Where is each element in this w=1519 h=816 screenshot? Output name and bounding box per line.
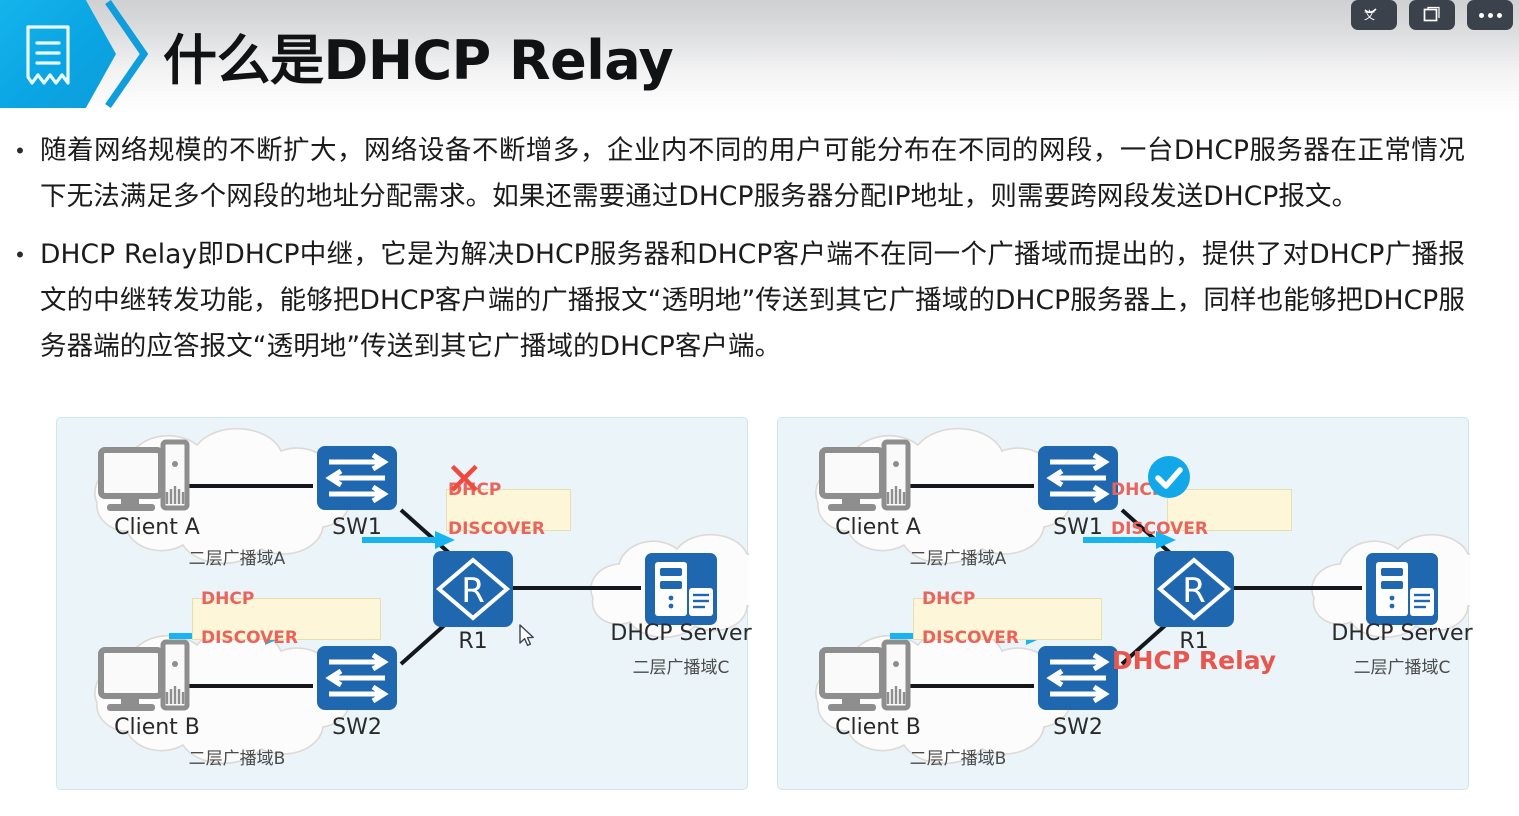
- domain-label-c: 二层广播域C: [591, 653, 771, 678]
- router-icon: R: [1154, 551, 1234, 627]
- status-error-icon: ✕: [445, 456, 484, 502]
- message-line-1: DHCP: [922, 589, 975, 609]
- svg-text:R: R: [1182, 571, 1206, 611]
- more-options-button[interactable]: [1467, 0, 1513, 30]
- window-controls: 文: [1351, 0, 1513, 30]
- node-label-sw1: SW1: [277, 515, 437, 540]
- bullet-item: • 随着网络规模的不断扩大，网络设备不断增多，企业内不同的用户可能分布在不同的网…: [0, 128, 1500, 220]
- bullet-item: • DHCP Relay即DHCP中继，它是为解决DHCP服务器和DHCP客户端…: [0, 232, 1500, 370]
- domain-label-a: 二层广播域A: [157, 544, 317, 569]
- message-line-2: DISCOVER: [201, 628, 298, 648]
- chevron-right-icon: [104, 0, 148, 108]
- status-ok-icon: [1147, 455, 1191, 499]
- diagram-panel-with-relay: R: [777, 417, 1469, 790]
- switch-icon: [1038, 446, 1118, 510]
- message-line-2: DISCOVER: [448, 519, 545, 539]
- window-restore-icon: [1422, 6, 1442, 24]
- node-label-client-b: Client B: [77, 715, 237, 740]
- diagram-panel-without-relay: R: [56, 417, 748, 790]
- page-title: 什么是DHCP Relay: [163, 16, 673, 95]
- switch-icon: [317, 646, 397, 710]
- domain-label-b: 二层广播域B: [157, 744, 317, 769]
- node-label-client-a: Client A: [798, 515, 958, 540]
- node-label-dhcp-server: DHCP Server: [591, 621, 771, 646]
- server-icon: [1366, 553, 1438, 625]
- body-bullets: • 随着网络规模的不断扩大，网络设备不断增多，企业内不同的用户可能分布在不同的网…: [0, 128, 1500, 382]
- message-line-1: DHCP: [201, 589, 254, 609]
- mouse-cursor: [519, 624, 535, 648]
- bullet-marker: •: [0, 232, 40, 370]
- message-line-2: DISCOVER: [922, 628, 1019, 648]
- node-label-client-b: Client B: [798, 715, 958, 740]
- document-icon: [22, 24, 74, 86]
- node-label-sw2: SW2: [277, 715, 437, 740]
- bullet-text: 随着网络规模的不断扩大，网络设备不断增多，企业内不同的用户可能分布在不同的网段，…: [40, 128, 1465, 220]
- node-label-client-a: Client A: [77, 515, 237, 540]
- translate-button[interactable]: 文: [1351, 0, 1397, 30]
- server-icon: [645, 553, 717, 625]
- bullet-text: DHCP Relay即DHCP中继，它是为解决DHCP服务器和DHCP客户端不在…: [40, 232, 1465, 370]
- node-label-sw1: SW1: [998, 515, 1158, 540]
- node-label-sw2: SW2: [998, 715, 1158, 740]
- more-horizontal-icon: [1479, 13, 1502, 18]
- restore-window-button[interactable]: [1409, 0, 1455, 30]
- translate-icon: 文: [1364, 6, 1384, 24]
- domain-label-c: 二层广播域C: [1312, 653, 1492, 678]
- relay-label: DHCP Relay: [1084, 646, 1304, 675]
- svg-text:R: R: [461, 571, 485, 611]
- router-icon: R: [433, 551, 513, 627]
- node-label-dhcp-server: DHCP Server: [1312, 621, 1492, 646]
- slide-root: 什么是DHCP Relay 文 • 随着网络规模的不断扩大，网络设备不断增多，企…: [0, 0, 1519, 816]
- bullet-marker: •: [0, 128, 40, 220]
- domain-label-a: 二层广播域A: [878, 544, 1038, 569]
- domain-label-b: 二层广播域B: [878, 744, 1038, 769]
- switch-icon: [317, 446, 397, 510]
